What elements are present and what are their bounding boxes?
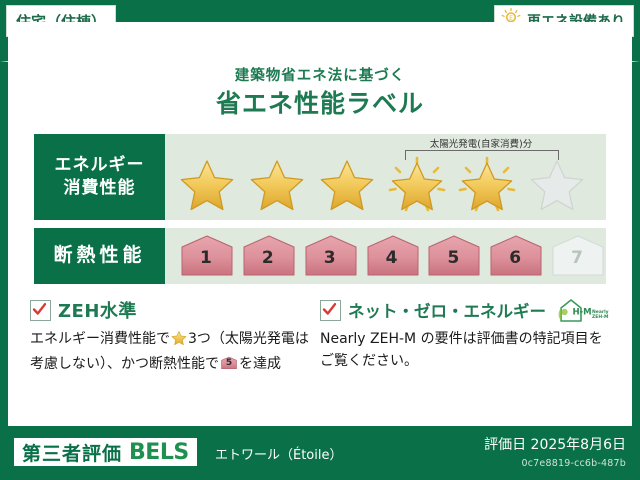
- energy-performance-row: エネルギー 消費性能 太陽光発電(自家消費)分: [34, 134, 606, 220]
- insulation-level-6: 6: [486, 233, 544, 279]
- net-zero-title: ネット・ゼロ・エネルギー: [348, 298, 546, 322]
- zeh-standard-description: エネルギー消費性能で 3つ（太陽光発電は考慮しない）、かつ断熱性能で 5 を達成: [30, 329, 320, 375]
- title-subtitle: 建築物省エネ法に基づく: [8, 64, 632, 85]
- insulation-level-badges: 1 2 3: [165, 228, 606, 284]
- house-level-icon: 5: [220, 355, 238, 371]
- net-zero-block: ネット・ゼロ・エネルギー H-M Nearly ZEH-M: [320, 298, 610, 372]
- insulation-level-3: 3: [301, 233, 359, 279]
- zeh-standard-checkbox[interactable]: [30, 300, 51, 321]
- insulation-levels-panel: 1 2 3: [165, 228, 606, 284]
- bels-jp-label: 第三者評価: [22, 439, 122, 466]
- insulation-level-2-number: 2: [239, 248, 297, 268]
- insulation-level-4-number: 4: [363, 248, 421, 268]
- star-6-empty: [523, 154, 591, 216]
- star-3: [313, 154, 381, 216]
- insulation-performance-label: 断熱性能: [34, 228, 165, 284]
- insulation-level-5-number: 5: [424, 248, 482, 268]
- certificate-uuid: 0c7e8819-cc6b-487b: [522, 458, 626, 469]
- star-5-solar: [453, 154, 521, 216]
- owner-name: エトワール（Étoile）: [215, 444, 343, 463]
- energy-stars-panel: 太陽光発電(自家消費)分: [165, 134, 606, 220]
- insulation-level-7-number: 7: [548, 248, 606, 268]
- star-1: [173, 154, 241, 216]
- insulation-level-2: 2: [239, 233, 297, 279]
- zeh-desc-part1: エネルギー消費性能で: [30, 331, 170, 347]
- zeh-m-logo-icon: H-M Nearly ZEH-M: [557, 297, 609, 323]
- star-rating: [165, 154, 606, 216]
- bels-certification-badge: 第三者評価 BELS: [14, 438, 197, 466]
- insulation-level-4: 4: [363, 233, 421, 279]
- zeh-desc-part3: を達成: [239, 356, 281, 372]
- house-level-icon-number: 5: [220, 357, 238, 371]
- solar-annotation-text: 太陽光発電(自家消費)分: [401, 136, 561, 150]
- star-2: [243, 154, 311, 216]
- zeh-standard-block: ZEH水準 エネルギー消費性能で 3つ（太陽光発電は考慮しない）、かつ断熱性能で…: [30, 298, 320, 375]
- bels-en-label: BELS: [129, 440, 189, 465]
- insulation-level-5: 5: [424, 233, 482, 279]
- star-icon: [171, 330, 187, 354]
- svg-text:E: E: [509, 15, 513, 22]
- insulation-performance-row: 断熱性能 1: [34, 228, 606, 284]
- net-zero-description: Nearly ZEH-M の要件は評価書の特記項目をご覧ください。: [320, 329, 610, 372]
- insulation-level-6-number: 6: [486, 248, 544, 268]
- energy-label-line1: エネルギー: [55, 155, 145, 175]
- energy-label-line2: 消費性能: [64, 178, 136, 198]
- zeh-m-logo-sub2: ZEH-M: [592, 315, 608, 320]
- net-zero-checkbox[interactable]: [320, 300, 341, 321]
- zeh-standard-title: ZEH水準: [58, 297, 137, 323]
- label-card: 建築物省エネ法に基づく 省エネ性能ラベル エネルギー 消費性能 太陽光発電(自家…: [8, 22, 632, 426]
- insulation-level-3-number: 3: [301, 248, 359, 268]
- energy-performance-label: 住宅（住棟） E 再エネ設備あり 建築物省エネ法に基づく 省エネ性能ラベル: [0, 0, 640, 480]
- insulation-level-1: 1: [177, 233, 235, 279]
- page-title: 省エネ性能ラベル: [8, 84, 632, 120]
- evaluation-date: 評価日 2025年8月6日: [484, 434, 626, 454]
- energy-performance-label: エネルギー 消費性能: [34, 134, 165, 220]
- footer-bar: 第三者評価 BELS エトワール（Étoile） 評価日 2025年8月6日 0…: [0, 426, 640, 480]
- insulation-level-1-number: 1: [177, 248, 235, 268]
- star-4-solar: [383, 154, 451, 216]
- insulation-level-7: 7: [548, 233, 606, 279]
- svg-text:H-M: H-M: [573, 308, 592, 318]
